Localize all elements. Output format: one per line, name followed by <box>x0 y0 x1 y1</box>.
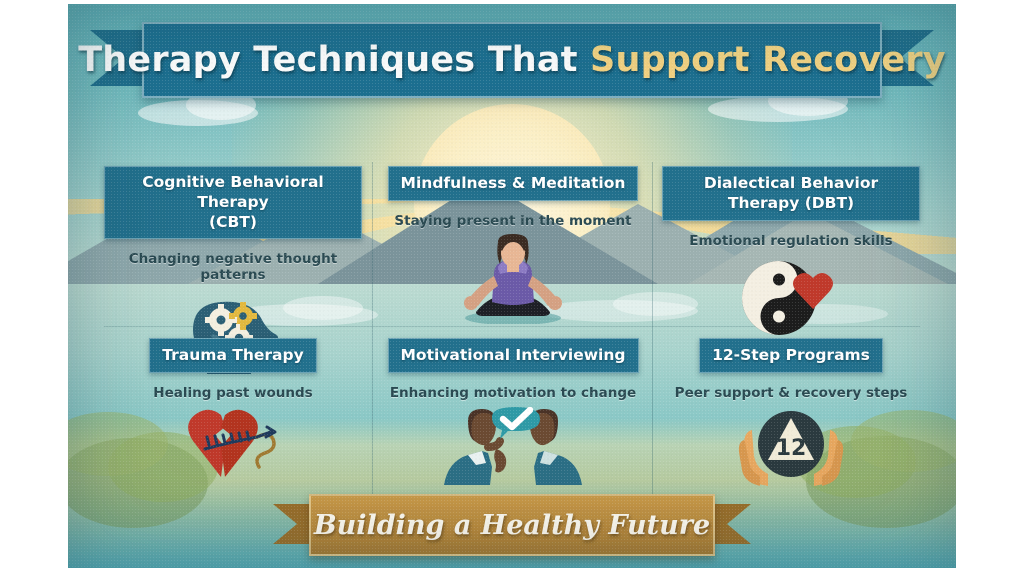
card-header-cbt: Cognitive Behavioral Therapy (CBT) <box>104 166 362 239</box>
card-header-dbt: Dialectical Behavior Therapy (DBT) <box>662 166 920 221</box>
card-title-cbt-line2: (CBT) <box>209 213 257 231</box>
card-subtitle-mindfulness: Staying present in the moment <box>384 213 642 229</box>
yin-yang-heart-icon <box>662 257 920 341</box>
footer-ribbon-body: Building a Healthy Future <box>309 494 715 556</box>
technique-grid: Cognitive Behavioral Therapy (CBT) Chang… <box>94 156 930 496</box>
footer-banner-text: Building a Healthy Future <box>314 510 710 541</box>
title-ribbon: Therapy Techniques That Support Recovery <box>90 22 934 94</box>
card-subtitle-twelve-step: Peer support & recovery steps <box>662 385 920 401</box>
column-divider-2 <box>652 162 653 494</box>
card-title-motivational: Motivational Interviewing <box>401 346 626 364</box>
twelve-step-number: 12 <box>776 436 807 461</box>
mended-broken-heart-icon <box>104 409 362 483</box>
card-title-cbt: Cognitive Behavioral Therapy <box>142 173 324 211</box>
card-title-trauma: Trauma Therapy <box>162 346 303 364</box>
card-title-mindfulness: Mindfulness & Meditation <box>401 174 626 192</box>
hands-holding-twelve-step-icon: 12 <box>662 409 920 483</box>
card-motivational-interviewing[interactable]: Motivational Interviewing Enhancing moti… <box>384 338 642 483</box>
card-trauma-therapy[interactable]: Trauma Therapy Healing past wounds <box>104 338 362 483</box>
card-title-twelve-step: 12-Step Programs <box>712 346 870 364</box>
two-people-talking-checkmark-icon <box>384 409 642 483</box>
page-title: Therapy Techniques That Support Recovery <box>78 40 946 80</box>
card-header-mindfulness: Mindfulness & Meditation <box>388 166 639 201</box>
card-subtitle-trauma: Healing past wounds <box>104 385 362 401</box>
title-ribbon-body: Therapy Techniques That Support Recovery <box>142 22 882 98</box>
footer-ribbon: Building a Healthy Future <box>273 494 751 552</box>
page-title-gold: Support Recovery <box>590 40 946 80</box>
card-subtitle-dbt: Emotional regulation skills <box>662 233 920 249</box>
card-dialectical-behavior-therapy[interactable]: Dialectical Behavior Therapy (DBT) Emoti… <box>662 166 920 341</box>
card-header-trauma: Trauma Therapy <box>149 338 316 373</box>
card-title-dbt: Dialectical Behavior Therapy (DBT) <box>704 174 878 212</box>
card-subtitle-motivational: Enhancing motivation to change <box>384 385 642 401</box>
card-header-motivational: Motivational Interviewing <box>388 338 639 373</box>
page-title-white: Therapy Techniques That <box>78 40 590 80</box>
card-mindfulness-meditation[interactable]: Mindfulness & Meditation Staying present… <box>384 166 642 321</box>
card-twelve-step-programs[interactable]: 12-Step Programs Peer support & recovery… <box>662 338 920 483</box>
column-divider-1 <box>372 162 373 494</box>
infographic-poster: Therapy Techniques That Support Recovery… <box>68 4 956 568</box>
meditating-person-icon <box>384 237 642 321</box>
card-subtitle-cbt: Changing negative thought patterns <box>104 251 362 283</box>
card-header-twelve-step: 12-Step Programs <box>699 338 883 373</box>
